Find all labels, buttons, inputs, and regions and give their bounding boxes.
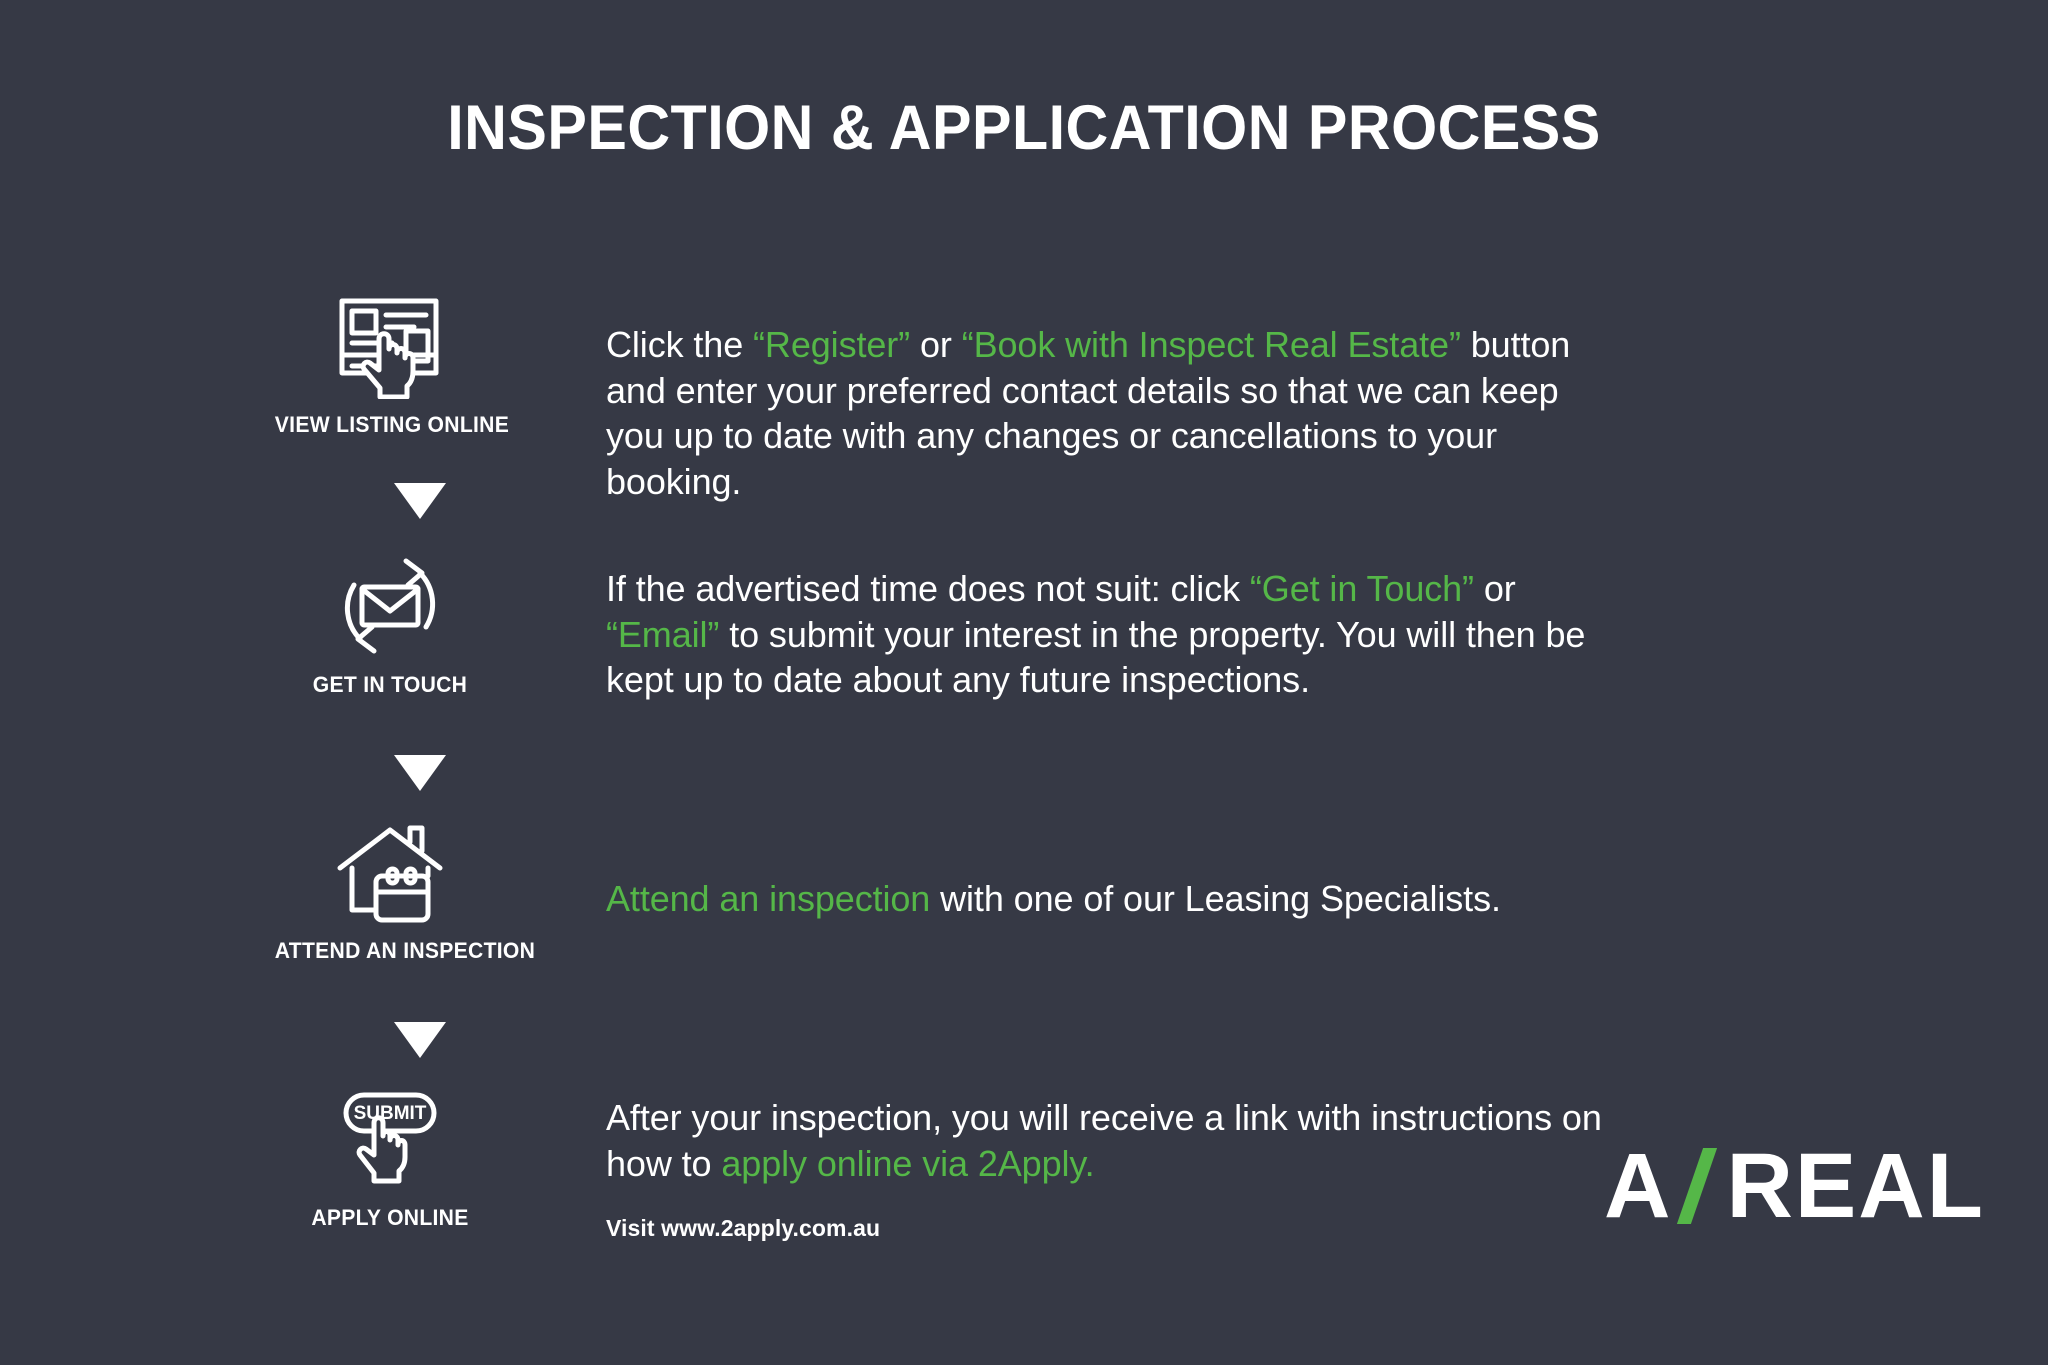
get-in-touch-icon: [270, 552, 510, 660]
poster-canvas: INSPECTION & APPLICATION PROCESS VIEW LI: [0, 0, 2048, 1365]
step-1-icon-column: VIEW LISTING ONLINE: [270, 292, 510, 438]
step-3-icon-column: ATTEND AN INSPECTION: [270, 818, 510, 964]
visit-url-line: Visit www.2apply.com.au: [606, 1214, 1616, 1243]
attend-an-inspection-icon: [270, 818, 510, 926]
step-4-text: After your inspection, you will receive …: [606, 1095, 1616, 1244]
step-1-part-0: Click the: [606, 324, 753, 365]
step-1-text: Click the “Register” or “Book with Inspe…: [606, 322, 1616, 505]
step-3-part-1: with one of our Leasing Specialists.: [930, 878, 1501, 919]
step-2-label: GET IN TOUCH: [275, 672, 505, 698]
slash-icon: [1677, 1148, 1717, 1224]
step-4-paragraph: After your inspection, you will receive …: [606, 1095, 1616, 1186]
a-real-logo: A REAL: [1604, 1140, 1985, 1232]
step-2-part-2: or: [1474, 568, 1516, 609]
step-2-part-3: “Email”: [606, 614, 719, 655]
step-3-label: ATTEND AN INSPECTION: [275, 938, 505, 964]
step-1-label: VIEW LISTING ONLINE: [275, 412, 505, 438]
step-2-icon-column: GET IN TOUCH: [270, 552, 510, 698]
apply-online-icon: SUBMIT: [270, 1085, 510, 1193]
step-1-part-1: “Register”: [753, 324, 910, 365]
view-listing-online-icon: [270, 292, 510, 400]
step-4-icon-column: SUBMIT APPLY ONLINE: [270, 1085, 510, 1231]
step-1-part-3: “Book with Inspect Real Estate”: [962, 324, 1461, 365]
logo-letter-a: A: [1604, 1140, 1672, 1232]
logo-word-real: REAL: [1726, 1140, 1984, 1232]
page-title: INSPECTION & APPLICATION PROCESS: [61, 92, 1986, 164]
submit-button-label: SUBMIT: [354, 1103, 427, 1124]
step-2-part-1: “Get in Touch”: [1250, 568, 1474, 609]
step-4-part-1: apply online via 2Apply.: [721, 1143, 1094, 1184]
down-arrow-icon: [394, 1022, 446, 1058]
step-2-part-0: If the advertised time does not suit: cl…: [606, 568, 1250, 609]
step-1-part-2: or: [910, 324, 962, 365]
step-3-part-0: Attend an inspection: [606, 878, 930, 919]
step-4-label: APPLY ONLINE: [275, 1205, 505, 1231]
step-2-text: If the advertised time does not suit: cl…: [606, 566, 1616, 703]
step-3-text: Attend an inspection with one of our Lea…: [606, 876, 1616, 922]
down-arrow-icon: [394, 483, 446, 519]
down-arrow-icon: [394, 755, 446, 791]
step-2-part-4: to submit your interest in the property.…: [606, 614, 1585, 701]
